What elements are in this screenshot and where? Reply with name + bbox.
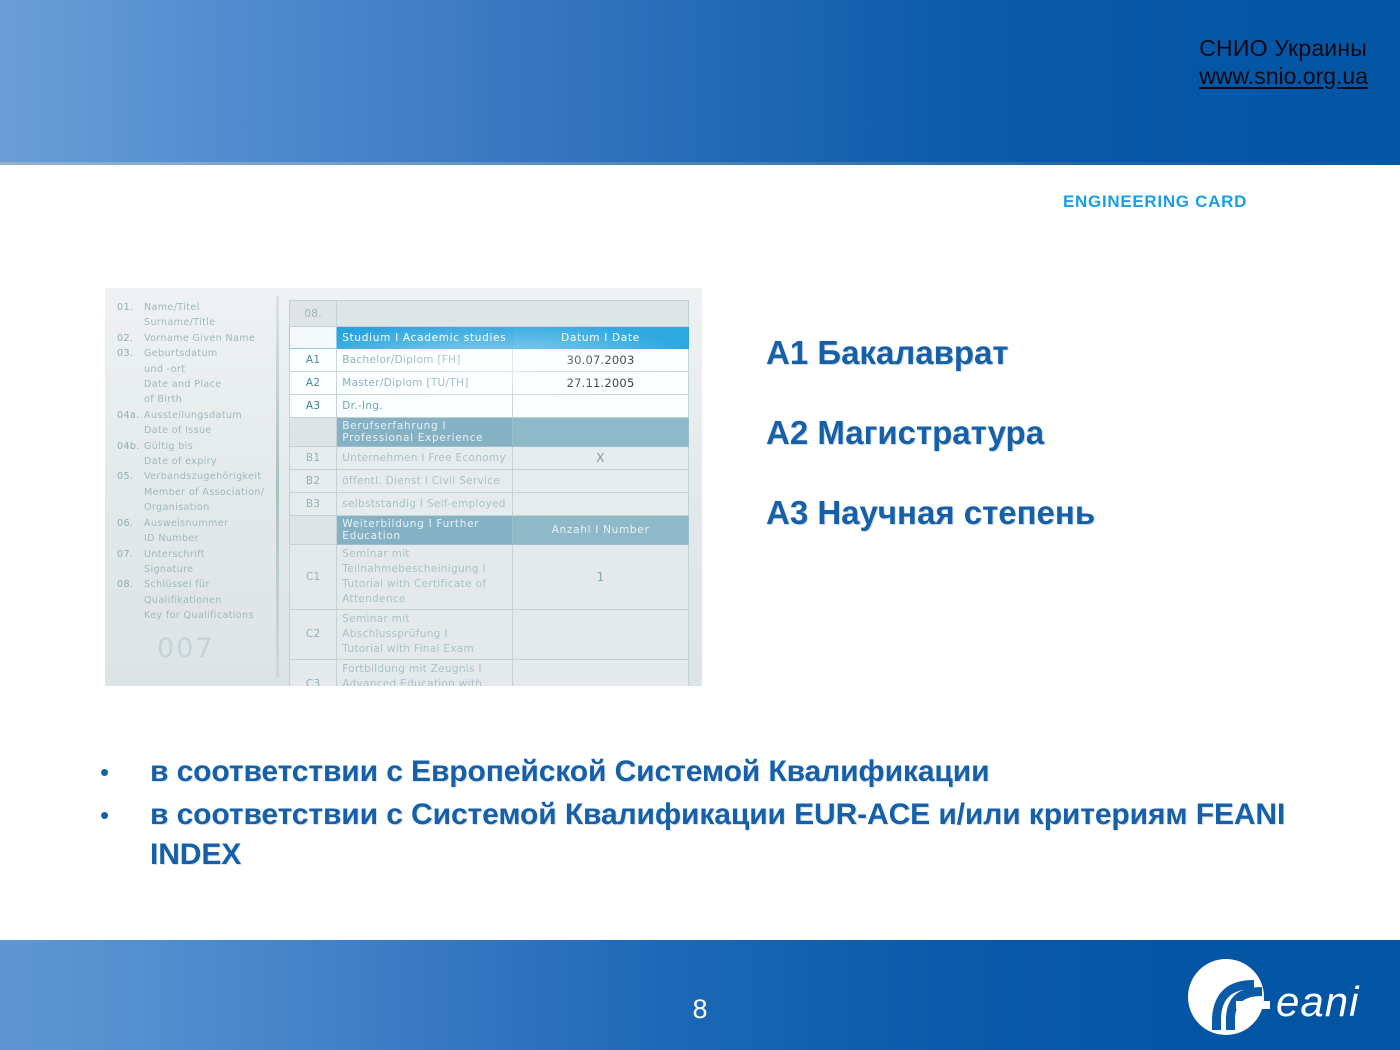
- card-row-label: öffentl. Dienst I Civil Service: [337, 470, 513, 493]
- card-legend-line: 05.Verbandszugehörigkeit: [117, 469, 269, 484]
- card-row-value: [513, 470, 689, 493]
- card-row-label: Master/Diplom [TU/TH]: [337, 372, 513, 395]
- card-row-code: A2: [290, 372, 337, 395]
- card-row-code: [290, 418, 337, 447]
- card-legend-text: Schlüssel für: [144, 577, 269, 592]
- card-row-value: Datum I Date: [513, 327, 689, 349]
- card-row-code: B2: [290, 470, 337, 493]
- card-legend-number: 04b.: [117, 439, 144, 454]
- card-legend-text: of Birth: [144, 392, 269, 407]
- card-legend-text: Key for Qualifications: [144, 608, 269, 623]
- card-legend-line: Key for Qualifications: [117, 608, 269, 623]
- card-table-row: B1Unternehmen I Free EconomyX: [290, 447, 689, 470]
- organization-url-link[interactable]: www.snio.org.ua: [1199, 62, 1368, 90]
- card-legend-line: of Birth: [117, 392, 269, 407]
- card-row-label: Berufserfahrung I Professional Experienc…: [337, 418, 513, 447]
- card-legend-text: Date of expiry: [144, 454, 269, 469]
- card-legend-spacer: [117, 562, 144, 577]
- card-legend-line: Member of Association/: [117, 485, 269, 500]
- criteria-bullet-row: •в соответствии с Европейской Системой К…: [97, 752, 1347, 792]
- card-legend-line: 01.Name/Titel: [117, 300, 269, 315]
- card-legend-line: Date of expiry: [117, 454, 269, 469]
- card-legend-text: Signature: [144, 562, 269, 577]
- card-table-header-row: Berufserfahrung I Professional Experienc…: [290, 418, 689, 447]
- card-legend-spacer: [117, 608, 144, 623]
- criteria-bullet-row: •в соответствии с Системой Квалификации …: [97, 795, 1347, 875]
- card-legend-number: 05.: [117, 469, 144, 484]
- organization-name: СНИО Украины: [1199, 34, 1368, 62]
- card-table-section-row: 08.: [290, 301, 689, 327]
- card-row-label: Fortbildung mit Zeugnis IAdvanced Educat…: [337, 660, 513, 687]
- card-legend-text: Name/Titel: [144, 300, 269, 315]
- card-row-value: 30.07.2003: [513, 349, 689, 372]
- card-row-code: A3: [290, 395, 337, 418]
- card-legend-spacer: [117, 423, 144, 438]
- criteria-bullet-text: в соответствии с Системой Квалификации E…: [150, 795, 1347, 875]
- card-legend-number: 07.: [117, 547, 144, 562]
- card-row-label: Weiterbildung I Further Education: [337, 516, 513, 545]
- card-row-value: Anzahl I Number: [513, 516, 689, 545]
- card-row-label-line2: Tutorial with Final Exam: [342, 642, 507, 657]
- criteria-bullet-list: •в соответствии с Европейской Системой К…: [97, 752, 1347, 878]
- card-legend-line: Date and Place: [117, 377, 269, 392]
- bullet-marker-icon: •: [97, 752, 150, 792]
- card-row-value: [513, 610, 689, 660]
- card-legend-text: Ausweisnummer: [144, 516, 269, 531]
- svg-text:eani: eani: [1276, 978, 1360, 1025]
- card-row-code: [290, 516, 337, 545]
- card-table-section-code: 08.: [290, 301, 337, 327]
- card-row-label: Seminar mit Teilnahmebescheinigung ITuto…: [337, 545, 513, 610]
- card-table-row: A2Master/Diplom [TU/TH]27.11.2005: [290, 372, 689, 395]
- card-row-label-line2: Advanced Education with Certificate: [342, 677, 507, 686]
- slide-footer-band: 8 eani: [0, 940, 1400, 1050]
- card-legend-spacer: [117, 531, 144, 546]
- card-legend-line: 07.Unterschrift: [117, 547, 269, 562]
- card-legend-line: Surname/Title: [117, 315, 269, 330]
- card-table-row: C1Seminar mit Teilnahmebescheinigung ITu…: [290, 545, 689, 610]
- card-row-label-line1: Seminar mit Teilnahmebescheinigung I: [342, 547, 507, 577]
- card-legend-line: 03.Geburtsdatum: [117, 346, 269, 361]
- card-legend-number: 01.: [117, 300, 144, 315]
- card-row-value: X: [513, 447, 689, 470]
- card-legend-line: 04a.Ausstellungsdatum: [117, 408, 269, 423]
- card-legend-text: Verbandszugehörigkeit: [144, 469, 269, 484]
- card-row-label-line1: Seminar mit Abschlussprüfung I: [342, 612, 507, 642]
- card-legend-spacer: [117, 593, 144, 608]
- card-legend-text: Surname/Title: [144, 315, 269, 330]
- card-qualification-table: 08.Studium I Academic studiesDatum I Dat…: [289, 300, 689, 686]
- card-legend-text: Geburtsdatum: [144, 346, 269, 361]
- card-legend-line: Qualifikationen: [117, 593, 269, 608]
- card-row-value: 27.11.2005: [513, 372, 689, 395]
- card-legend-spacer: [117, 454, 144, 469]
- slide-header-band: СНИО Украины www.snio.org.ua: [0, 0, 1400, 165]
- card-row-code: B1: [290, 447, 337, 470]
- card-legend-spacer: [117, 315, 144, 330]
- card-legend-text: Organisation: [144, 500, 269, 515]
- bullet-marker-icon: •: [97, 795, 150, 835]
- card-legend-line: und -ort: [117, 362, 269, 377]
- card-legend-spacer: [117, 485, 144, 500]
- card-legend-line: ID Number: [117, 531, 269, 546]
- card-legend-text: Unterschrift: [144, 547, 269, 562]
- card-legend-text: Ausstellungsdatum: [144, 408, 269, 423]
- card-row-label: Seminar mit Abschlussprüfung ITutorial w…: [337, 610, 513, 660]
- card-legend-text: und -ort: [144, 362, 269, 377]
- card-table-row: B2öffentl. Dienst I Civil Service: [290, 470, 689, 493]
- card-legend-number: 06.: [117, 516, 144, 531]
- card-legend-number: 03.: [117, 346, 144, 361]
- card-table-row: C2Seminar mit Abschlussprüfung ITutorial…: [290, 610, 689, 660]
- card-row-code: C3: [290, 660, 337, 687]
- card-legend-text: Qualifikationen: [144, 593, 269, 608]
- card-legend-line: 06.Ausweisnummer: [117, 516, 269, 531]
- card-legend-number: 08.: [117, 577, 144, 592]
- card-row-code: C2: [290, 610, 337, 660]
- card-legend-spacer: [117, 362, 144, 377]
- engineering-card-title: ENGINEERING CARD: [1063, 192, 1247, 212]
- card-legend-number: 04a.: [117, 408, 144, 423]
- card-legend-text: Gültig bis: [144, 439, 269, 454]
- card-row-value: [513, 395, 689, 418]
- card-table-row: A3Dr.-Ing.: [290, 395, 689, 418]
- card-table-header-row: Studium I Academic studiesDatum I Date: [290, 327, 689, 349]
- card-legend-line: Date of Issue: [117, 423, 269, 438]
- qualification-level-item: A3 Научная степень: [766, 496, 1095, 529]
- organization-block: СНИО Украины www.snio.org.ua: [1199, 34, 1368, 90]
- engineering-card-image: 01.Name/TitelSurname/Title02.Vorname Giv…: [105, 288, 702, 686]
- card-legend-text: Vorname Given Name: [144, 331, 269, 346]
- card-column-divider: [276, 296, 279, 678]
- card-legend-spacer: [117, 392, 144, 407]
- qualification-level-item: A1 Бакалаврат: [766, 336, 1095, 369]
- card-row-value: [513, 418, 689, 447]
- card-legend-text: Date and Place: [144, 377, 269, 392]
- card-row-code: A1: [290, 349, 337, 372]
- card-row-label: Dr.-Ing.: [337, 395, 513, 418]
- card-table-row: C3Fortbildung mit Zeugnis IAdvanced Educ…: [290, 660, 689, 687]
- card-row-code: B3: [290, 493, 337, 516]
- card-row-label: Bachelor/Diplom [FH]: [337, 349, 513, 372]
- card-legend-line: 04b.Gültig bis: [117, 439, 269, 454]
- card-table-row: B3selbststandig I Self-employed: [290, 493, 689, 516]
- card-row-label-line2: Tutorial with Certificate of Attendence: [342, 577, 507, 607]
- card-row-value: [513, 493, 689, 516]
- card-legend-spacer: [117, 377, 144, 392]
- card-row-label: Unternehmen I Free Economy: [337, 447, 513, 470]
- card-legend-spacer: [117, 500, 144, 515]
- card-row-label-line1: Fortbildung mit Zeugnis I: [342, 662, 507, 677]
- card-row-code: [290, 327, 337, 349]
- card-table-row: A1Bachelor/Diplom [FH]30.07.2003: [290, 349, 689, 372]
- card-row-value: 1: [513, 545, 689, 610]
- card-table-body: 08.Studium I Academic studiesDatum I Dat…: [290, 301, 689, 687]
- feani-logo: eani: [1184, 956, 1374, 1038]
- card-table-section-main: [337, 301, 689, 327]
- card-legend-line: Signature: [117, 562, 269, 577]
- card-legend-text: Member of Association/: [144, 485, 269, 500]
- card-legend-line: 08.Schlüssel für: [117, 577, 269, 592]
- card-row-code: C1: [290, 545, 337, 610]
- card-row-value: [513, 660, 689, 687]
- card-row-label: selbststandig I Self-employed: [337, 493, 513, 516]
- card-legend-line: Organisation: [117, 500, 269, 515]
- card-row-label: Studium I Academic studies: [337, 327, 513, 349]
- qualification-levels-list: A1 БакалавратA2 МагистратураA3 Научная с…: [766, 336, 1095, 529]
- qualification-level-item: A2 Магистратура: [766, 416, 1095, 449]
- card-table-header-row: Weiterbildung I Further EducationAnzahl …: [290, 516, 689, 545]
- card-serial-number: 007: [157, 633, 215, 664]
- criteria-bullet-text: в соответствии с Европейской Системой Кв…: [150, 752, 1347, 792]
- card-legend-text: ID Number: [144, 531, 269, 546]
- card-field-legend: 01.Name/TitelSurname/Title02.Vorname Giv…: [117, 300, 269, 624]
- card-legend-line: 02.Vorname Given Name: [117, 331, 269, 346]
- card-legend-number: 02.: [117, 331, 144, 346]
- card-legend-text: Date of Issue: [144, 423, 269, 438]
